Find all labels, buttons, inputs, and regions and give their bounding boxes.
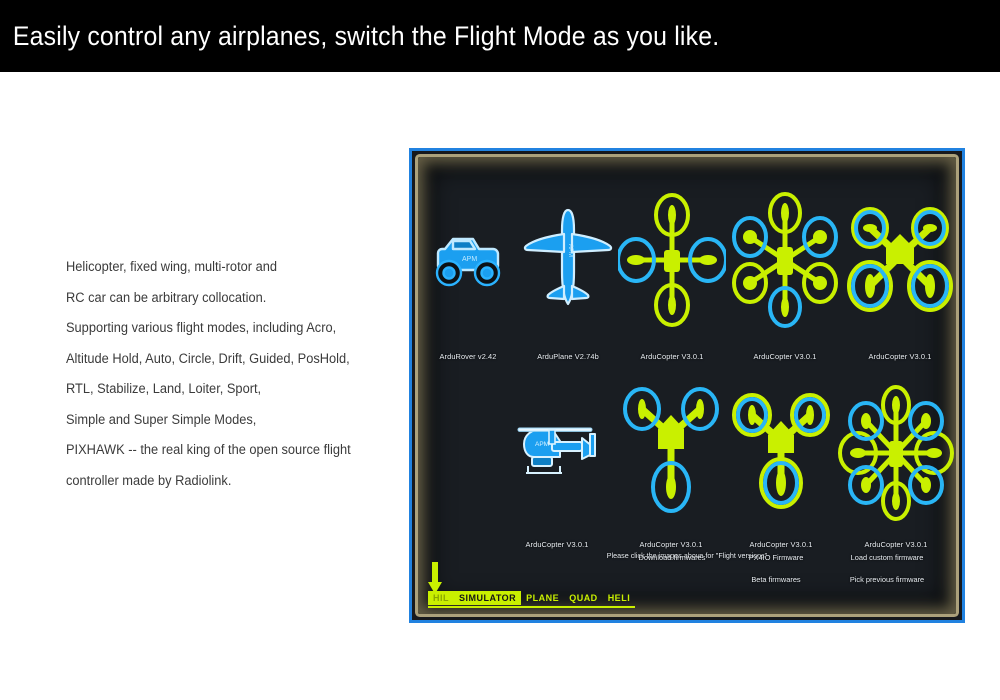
svg-text:APM: APM	[567, 244, 573, 257]
vehicle-caption: ArduCopter V3.0.1	[754, 352, 817, 361]
page-root: Easily control any airplanes, switch the…	[0, 0, 1000, 700]
vehicle-tile-rover[interactable]: APM ArduRover v2.42	[418, 171, 518, 361]
vehicle-tile-empty	[418, 369, 498, 549]
description-line: controller made by Radiolink.	[66, 466, 389, 497]
description-block: Helicopter, fixed wing, multi-rotor and …	[66, 252, 389, 496]
tri-y6-icon[interactable]	[726, 369, 836, 536]
vehicle-tile-plane[interactable]: APM ArduPlane V2.74b	[518, 171, 618, 361]
description-line: PIXHAWK -- the real king of the open sou…	[66, 435, 389, 466]
vehicle-tile-hexa-plus[interactable]: ArduCopter V3.0.1	[726, 171, 844, 361]
quad-x-icon[interactable]	[844, 171, 956, 348]
hexa-plus-icon[interactable]	[726, 171, 844, 348]
pick-previous-firmware-link[interactable]: Pick previous firmware	[828, 575, 946, 584]
tab-plane[interactable]: PLANE	[521, 591, 564, 605]
load-custom-firmware-link[interactable]: Load custom firmware	[828, 553, 946, 562]
firmware-links: Download firmwares PX4IO Firmware Load c…	[620, 546, 946, 590]
description-line: Supporting various flight modes, includi…	[66, 313, 389, 344]
description-line: RC car can be arbitrary collocation.	[66, 283, 389, 314]
tab-heli[interactable]: HELI	[603, 591, 636, 605]
mission-planner-window: APM ArduRover v2.42	[409, 148, 965, 623]
vehicle-caption: ArduPlane V2.74b	[537, 352, 599, 361]
tab-quad[interactable]: QUAD	[564, 591, 603, 605]
vehicle-tile-quad-plus[interactable]: ArduCopter V3.0.1	[618, 171, 726, 361]
beta-firmwares-link[interactable]: Beta firmwares	[724, 575, 828, 584]
page-title: Easily control any airplanes, switch the…	[0, 21, 719, 52]
vehicle-tile-tri[interactable]: ArduCopter V3.0.1	[616, 369, 726, 549]
svg-text:APM: APM	[462, 256, 477, 263]
description-line: Helicopter, fixed wing, multi-rotor and	[66, 252, 389, 283]
vehicle-tile-heli[interactable]: APM ArduCopter V3.0.1	[498, 369, 616, 549]
vehicle-row-top: APM ArduRover v2.42	[418, 171, 956, 361]
description-line: Altitude Hold, Auto, Circle, Drift, Guid…	[66, 344, 389, 375]
quad-plus-icon[interactable]	[618, 171, 726, 348]
description-line: Simple and Super Simple Modes,	[66, 405, 389, 436]
firmware-tabbar: HIL SIMULATOR PLANE QUAD HELI	[428, 591, 635, 608]
px4io-firmware-link[interactable]: PX4IO Firmware	[724, 553, 828, 562]
blank-icon	[418, 369, 498, 545]
heli-icon[interactable]: APM	[498, 369, 616, 536]
rover-icon[interactable]: APM	[418, 171, 518, 348]
description-line: RTL, Stabilize, Land, Loiter, Sport,	[66, 374, 389, 405]
hexa-x-icon[interactable]	[836, 369, 956, 536]
firmware-install-panel: APM ArduRover v2.42	[418, 157, 956, 614]
tri-y-icon[interactable]	[616, 369, 726, 536]
header-banner: Easily control any airplanes, switch the…	[0, 0, 1000, 72]
vehicle-tile-hexa-x[interactable]: ArduCopter V3.0.1	[836, 369, 956, 549]
vehicle-row-bottom: APM ArduCopter V3.0.1	[418, 369, 956, 549]
cursor-pointer-icon	[428, 562, 442, 596]
vehicle-caption: ArduCopter V3.0.1	[526, 540, 589, 549]
vehicle-caption: ArduRover v2.42	[440, 352, 497, 361]
vehicle-caption: ArduCopter V3.0.1	[869, 352, 932, 361]
svg-text:APM: APM	[535, 441, 549, 448]
download-firmwares-link[interactable]: Download firmwares	[620, 553, 724, 562]
plane-icon[interactable]: APM	[518, 171, 618, 348]
vehicle-caption: ArduCopter V3.0.1	[641, 352, 704, 361]
tab-simulator[interactable]: SIMULATOR	[454, 591, 521, 605]
vehicle-tile-tri-y6[interactable]: ArduCopter V3.0.1	[726, 369, 836, 549]
vehicle-tile-quad-x[interactable]: ArduCopter V3.0.1	[844, 171, 956, 361]
